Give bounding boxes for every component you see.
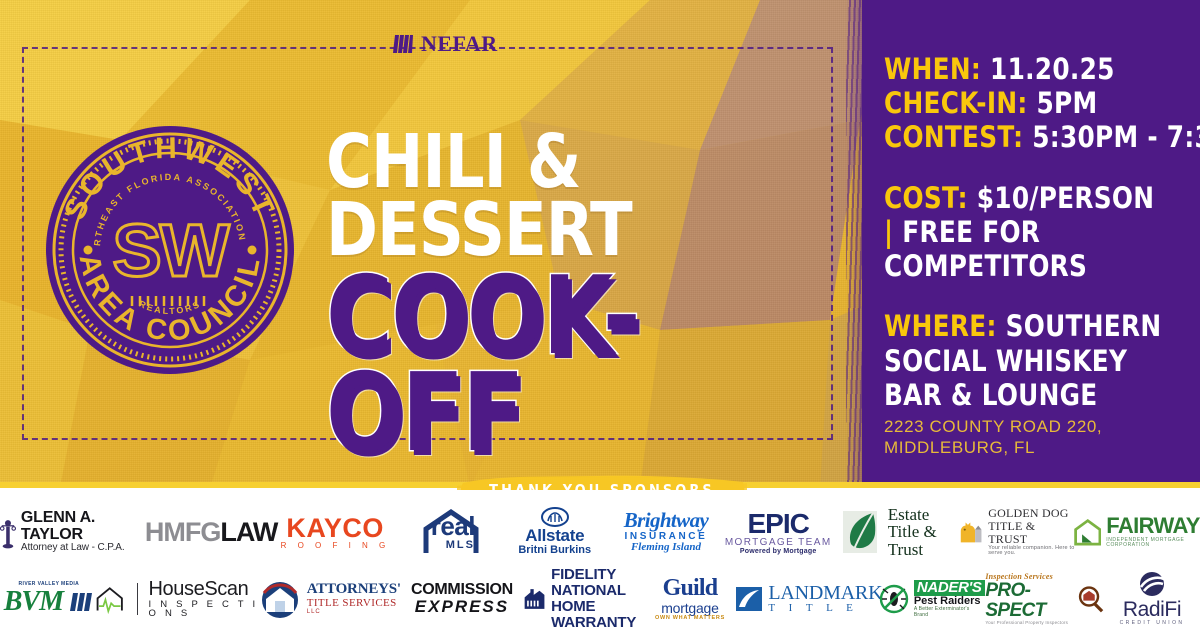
address-line-1: 2223 COUNTY ROAD 220, <box>884 417 1184 438</box>
where-line: WHERE: SOUTHERN SOCIAL WHISKEY BAR & LOU… <box>884 309 1169 412</box>
sponsor-tagline: MLS <box>446 540 475 551</box>
sponsor-name: LANDMARK <box>768 583 882 603</box>
cost-value-free: FREE <box>902 215 973 249</box>
contest-line: CONTEST: 5:30PM - 7:30PM <box>884 120 1169 154</box>
title-line-2: COOK-OFF <box>326 268 796 462</box>
seal-monogram: SW <box>112 209 229 292</box>
sponsor-suffix: LLC <box>307 609 321 615</box>
fairway-house-icon <box>1074 515 1102 549</box>
sponsor-name: RadiFi <box>1123 599 1181 621</box>
sponsor-bvm: RIVER VALLEY MEDIA BVM <box>0 568 98 630</box>
where-label: WHERE: <box>884 309 997 343</box>
cost-label: COST: <box>884 181 968 215</box>
sponsor-fidelity-national-home-warranty: FIDELITY NATIONAL HOME WARRANTY <box>523 568 641 630</box>
sponsor-landmark-title: LANDMARK T I T L E <box>739 568 879 630</box>
sponsor-allstate: Allstate Britni Burkins <box>502 496 608 568</box>
sponsor-name: HouseScan <box>149 579 249 600</box>
leaf-icon <box>843 508 883 556</box>
sponsor-tagline: CREDIT UNION <box>1120 621 1185 626</box>
bvm-bars-icon <box>68 591 94 613</box>
landmark-wave-icon <box>735 585 763 613</box>
fidelity-building-icon <box>523 585 546 613</box>
cost-divider: | <box>884 215 893 249</box>
sponsor-location: Fleming Island <box>631 542 701 553</box>
sponsor-name: real <box>431 513 475 540</box>
title-block: CHILI & DESSERT COOK-OFF <box>326 128 826 463</box>
checkin-value: 5PM <box>1037 86 1098 120</box>
sponsor-powered-by: Powered by Mortgage <box>740 548 817 555</box>
sponsor-estate-title-trust: Estate Title & Trust <box>832 496 956 568</box>
radifi-wave-icon <box>1135 571 1169 599</box>
checkin-line: CHECK-IN: 5PM <box>884 86 1169 120</box>
sponsor-name-part-2: LAW <box>220 517 277 547</box>
pest-no-bug-icon <box>879 584 909 614</box>
sponsor-name: Allstate <box>525 527 584 545</box>
sponsor-golden-dog-title-trust: GOLDEN DOG TITLE & TRUST Your reliable c… <box>956 496 1080 568</box>
spacer-2 <box>884 283 1184 309</box>
sponsor-logos-section: GLENN A. TAYLOR Attorney at Law - C.P.A.… <box>0 490 1200 630</box>
sponsor-name: BVM <box>4 587 63 616</box>
sponsor-name: COMMISSION <box>411 582 513 599</box>
sponsor-tagline: Your reliable companion. Here to serve y… <box>988 546 1080 557</box>
checkin-label: CHECK-IN: <box>884 86 1028 120</box>
sponsor-epic-mortgage-team: EPIC MORTGAGE TEAM Powered by Mortgage <box>724 496 832 568</box>
lady-justice-icon <box>0 512 16 552</box>
sponsor-name: Brightway <box>624 510 708 532</box>
golden-dog-icon <box>956 515 983 549</box>
sponsor-name: GOLDEN DOG TITLE & TRUST <box>988 507 1072 546</box>
hero-section: NEFAR SOUTHWEST AREA COUNCIL NORTHEAST F… <box>0 0 1200 488</box>
sponsor-tagline: Britni Burkins <box>518 545 591 556</box>
sponsor-name: PRO-SPECT <box>985 581 1071 621</box>
sponsor-name: EPIC <box>748 509 809 538</box>
sponsor-name: FIDELITY NATIONAL HOME WARRANTY <box>551 567 641 630</box>
cost-value-amount: $10/PERSON <box>977 181 1154 215</box>
sponsor-fairway: FAIRWAY INDEPENDENT MORTGAGE CORPORATION <box>1080 496 1200 568</box>
sponsor-tagline: Attorney at Law - C.P.A. <box>21 543 125 553</box>
sponsor-housescan-inspections: HouseScan I N S P E C T I O N S <box>98 568 258 630</box>
sponsor-tagline: MORTGAGE TEAM <box>725 538 832 548</box>
sponsor-tagline: mortgage <box>661 601 719 616</box>
title-line-1: CHILI & DESSERT <box>326 128 796 264</box>
spacer-1 <box>884 155 1184 181</box>
nefar-bars-icon <box>392 32 414 56</box>
sponsor-commission-express: COMMISSION EXPRESS <box>401 568 523 630</box>
good-hands-icon <box>540 507 570 527</box>
details-panel-content: WHEN: 11.20.25 CHECK-IN: 5PM CONTEST: 5:… <box>884 52 1184 458</box>
sponsor-pro-spect-inspection: Inspection Services PRO-SPECT Your Profe… <box>985 568 1104 630</box>
when-value: 11.20.25 <box>990 52 1115 86</box>
sponsor-name: GLENN A. TAYLOR <box>21 510 145 543</box>
sponsor-name: Guild <box>663 576 718 601</box>
divider <box>137 583 138 615</box>
sponsor-slogan: A Better Exterminator's Brand <box>914 607 985 617</box>
sponsor-real-mls: real MLS <box>393 496 501 568</box>
cost-line: COST: $10/PERSON | FREE FOR COMPETITORS <box>884 181 1169 284</box>
address-line-2: MIDDLEBURG, FL <box>884 438 1184 459</box>
sponsor-guild-mortgage: Guild mortgage OWN WHAT MATTERS <box>641 568 739 630</box>
sponsor-tagline: R O O F I N G <box>281 542 390 550</box>
when-label: WHEN: <box>884 52 981 86</box>
house-circle-icon <box>258 579 302 619</box>
sponsor-name: Estate Title & Trust <box>888 506 946 558</box>
sponsor-tagline: INDEPENDENT MORTGAGE CORPORATION <box>1106 538 1200 548</box>
sponsor-kayco-roofing: KAYCO R O O F I N G <box>277 496 393 568</box>
event-flyer: NEFAR SOUTHWEST AREA COUNCIL NORTHEAST F… <box>0 0 1200 630</box>
sponsor-slogan: OWN WHAT MATTERS <box>655 616 725 622</box>
swac-seal-logo: SOUTHWEST AREA COUNCIL NORTHEAST FLORIDA… <box>44 124 296 376</box>
sponsor-tagline: I N S P E C T I O N S <box>149 600 262 620</box>
sponsor-name-part-1: HMFG <box>145 517 220 547</box>
nefar-logo: NEFAR <box>384 32 506 56</box>
sponsor-name: FAIRWAY <box>1106 515 1200 538</box>
sponsor-radifi-credit-union: RadiFi CREDIT UNION <box>1104 568 1200 630</box>
magnifier-house-icon <box>1076 582 1104 616</box>
sponsor-tagline: EXPRESS <box>415 598 509 616</box>
sponsor-name: ATTORNEYS' <box>307 582 401 598</box>
sponsor-name: KAYCO <box>286 514 384 542</box>
sponsor-brightway-insurance: Brightway INSURANCE Fleming Island <box>608 496 724 568</box>
sponsor-name: NADER'S <box>914 580 985 596</box>
venue-address: 2223 COUNTY ROAD 220, MIDDLEBURG, FL <box>884 417 1184 458</box>
nefar-wordmark: NEFAR <box>421 33 498 55</box>
sponsor-naders-pest-raiders: NADER'S Pest Raiders A Better Exterminat… <box>879 568 985 630</box>
sponsor-hmfg-law: HMFGLAW <box>145 496 277 568</box>
when-line: WHEN: 11.20.25 <box>884 52 1169 86</box>
sponsor-attorneys-title-services: ATTORNEYS' TITLE SERVICES LLC <box>258 568 401 630</box>
sponsor-row-1: GLENN A. TAYLOR Attorney at Law - C.P.A.… <box>0 490 1200 568</box>
sponsor-row-2: RIVER VALLEY MEDIA BVM <box>0 568 1200 630</box>
sponsor-slogan: Your Professional Property Inspectors <box>985 621 1068 626</box>
house-pulse-icon <box>94 579 125 619</box>
sponsor-glenn-taylor: GLENN A. TAYLOR Attorney at Law - C.P.A. <box>0 496 145 568</box>
sponsor-tagline: TITLE SERVICES <box>307 598 397 609</box>
contest-label: CONTEST: <box>884 120 1023 154</box>
sponsor-tagline: T I T L E <box>768 603 858 614</box>
contest-value: 5:30PM - 7:30PM <box>1032 120 1200 154</box>
